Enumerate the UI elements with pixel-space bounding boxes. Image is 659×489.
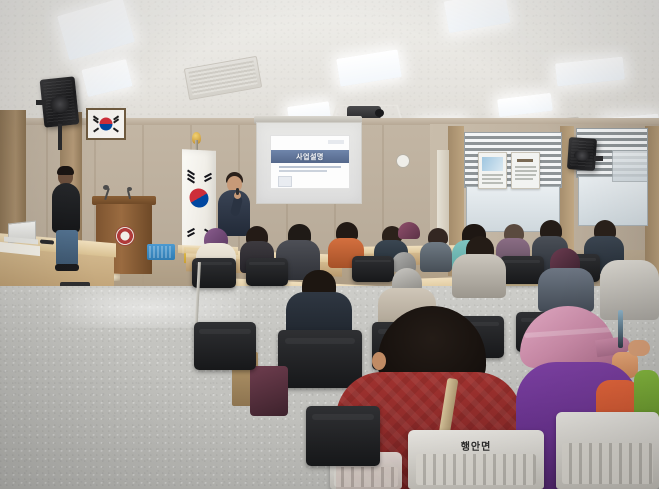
- municipal-emblem: [115, 226, 135, 246]
- presentation-slide: 사업설명: [270, 135, 350, 189]
- audience-member-ear: [372, 352, 386, 370]
- projection-screen: 사업설명: [256, 122, 362, 204]
- person-torso: [52, 183, 80, 233]
- chair-venue-label: 행안면: [408, 438, 544, 453]
- chair-black[interactable]: [194, 322, 256, 370]
- window-glass: [612, 150, 648, 182]
- slide-subtitle-line: [279, 166, 341, 168]
- chair-black[interactable]: [306, 406, 380, 466]
- presenter-microphone: [236, 188, 239, 195]
- wall-poster: [478, 152, 507, 189]
- microphone-head: [103, 185, 109, 190]
- wall-clock: [396, 154, 410, 168]
- meeting-room-photo: 사업설명: [0, 0, 659, 489]
- poster-image: [482, 157, 503, 171]
- hand: [628, 340, 650, 356]
- audience-member-body: [600, 260, 659, 320]
- audience-member: [398, 222, 420, 239]
- projector-lens: [375, 109, 384, 117]
- speaker-pole: [58, 124, 62, 150]
- window-glass: [578, 176, 648, 226]
- chair-slats: [562, 443, 653, 485]
- chair-black[interactable]: [246, 258, 288, 286]
- person-legs: [56, 230, 78, 266]
- speaker-bracket: [594, 156, 603, 161]
- slide-corner-mark: [328, 140, 344, 144]
- taeguk-circle: [100, 118, 113, 131]
- slide-logo: [278, 176, 292, 187]
- blue-basket: [147, 244, 175, 260]
- slide-subtitle-line: [279, 170, 327, 172]
- chair-black[interactable]: [352, 256, 394, 282]
- person-hair: [57, 166, 74, 175]
- chair-white[interactable]: [556, 412, 659, 489]
- bag-on-floor: [250, 366, 288, 416]
- speaker-bracket: [36, 100, 46, 105]
- person-shoes: [55, 264, 79, 271]
- microphone-head: [127, 187, 132, 191]
- chair-slats: [416, 454, 536, 486]
- slide-title-text: 사업설명: [271, 150, 349, 163]
- chair-slats: [334, 467, 397, 487]
- framed-taegukgi: [86, 108, 126, 140]
- pen: [618, 310, 623, 348]
- wall-poster: [511, 152, 540, 189]
- speaker-cone: [574, 150, 590, 162]
- chair-black[interactable]: [278, 330, 362, 388]
- wall-speaker: [567, 137, 597, 171]
- audience-member-body: [452, 254, 506, 298]
- chair-white[interactable]: 행안면: [408, 430, 544, 489]
- taeguk-circle: [188, 187, 211, 209]
- audience-member-body: [420, 242, 452, 272]
